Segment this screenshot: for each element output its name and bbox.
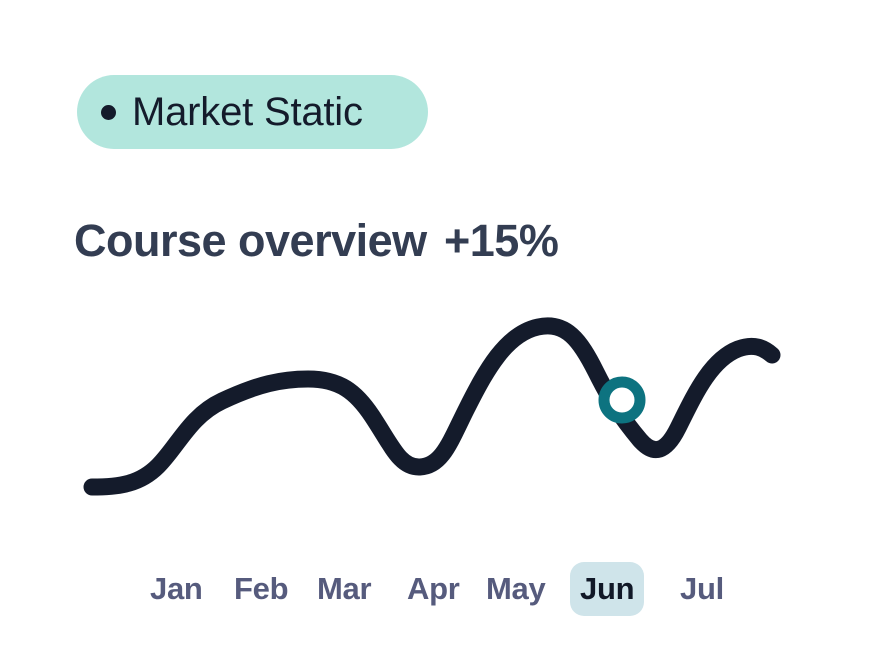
month-tab-mar[interactable]: Mar — [307, 562, 381, 616]
month-label: Jul — [680, 571, 724, 607]
month-tab-may[interactable]: May — [476, 562, 555, 616]
legend-label: Market Static — [132, 92, 363, 132]
month-label: Jun — [580, 571, 634, 607]
month-label: Jan — [150, 571, 203, 607]
month-tab-feb[interactable]: Feb — [224, 562, 298, 616]
month-label: Mar — [317, 571, 371, 607]
month-tab-jan[interactable]: Jan — [140, 562, 213, 616]
page-title: Course overview — [74, 205, 444, 277]
month-axis: Jan Feb Mar Apr May Jun Jul — [140, 562, 760, 616]
chart-highlight-marker[interactable] — [604, 382, 640, 418]
chart-line-path — [92, 326, 772, 487]
month-tab-jun[interactable]: Jun — [570, 562, 644, 616]
month-label: Feb — [234, 571, 288, 607]
legend-badge[interactable]: Market Static — [77, 75, 428, 149]
month-tab-jul[interactable]: Jul — [670, 562, 734, 616]
month-label: May — [486, 571, 545, 607]
month-tab-apr[interactable]: Apr — [397, 562, 470, 616]
delta-value: +15% — [444, 205, 558, 277]
market-static-chart-card: Market Static Course overview +15% Jan F… — [0, 0, 888, 672]
legend-dot-icon — [101, 105, 116, 120]
month-label: Apr — [407, 571, 460, 607]
headline: Course overview +15% — [74, 205, 814, 277]
